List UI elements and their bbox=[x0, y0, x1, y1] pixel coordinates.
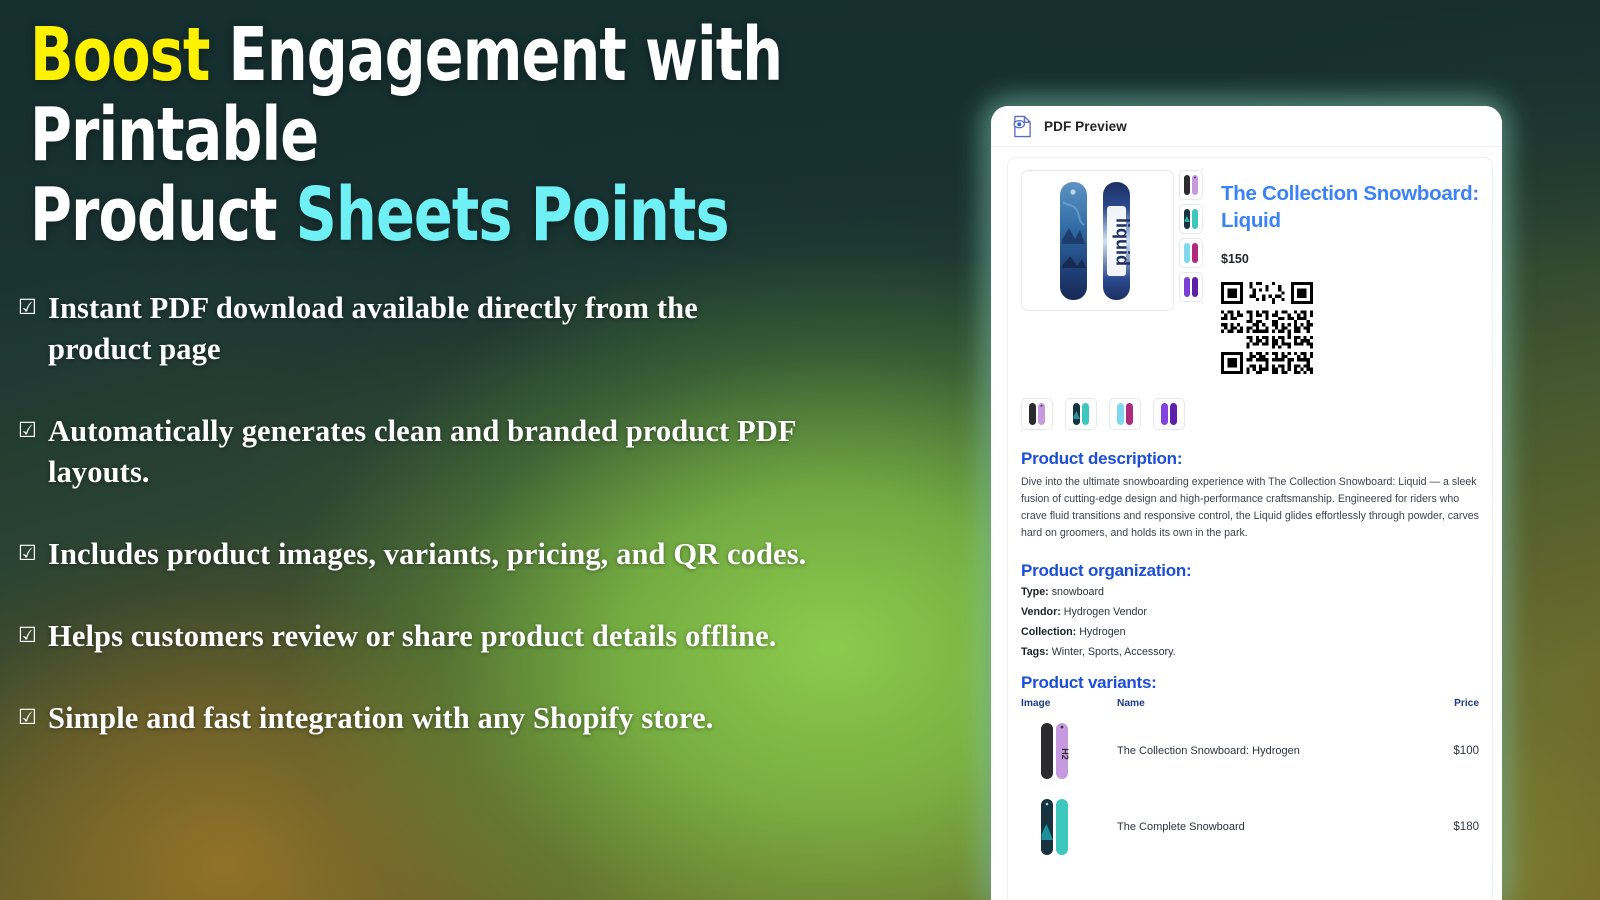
organization-label: Vendor: bbox=[1021, 606, 1061, 618]
thumbnail-variant-black-purple[interactable] bbox=[1021, 398, 1053, 430]
thumbnail-variant-purple-violet[interactable] bbox=[1153, 398, 1185, 430]
pdf-file-eye-icon bbox=[1012, 115, 1033, 138]
pdf-preview-header: PDF Preview bbox=[991, 106, 1502, 147]
feature-bullet-list: ☑ Instant PDF download available directl… bbox=[18, 288, 978, 780]
circled-check-icon: ☑ bbox=[18, 534, 48, 572]
product-title: The Collection Snowboard: Liquid bbox=[1221, 180, 1479, 235]
product-price: $150 bbox=[1221, 252, 1479, 266]
main-product-image[interactable]: liquid bbox=[1021, 170, 1174, 311]
pdf-sheet: liquid bbox=[1007, 157, 1493, 900]
qr-code-image bbox=[1221, 282, 1313, 374]
headline-line2-rest: Product bbox=[30, 172, 277, 258]
side-thumbnail-list bbox=[1179, 170, 1203, 379]
thumbnail-variant-teal-dark[interactable] bbox=[1179, 204, 1203, 234]
product-variants-table: Image Name Price H2 The Collection Snowb… bbox=[1021, 698, 1479, 865]
organization-label: Tags: bbox=[1021, 646, 1049, 658]
variant-name-cell: The Collection Snowboard: Hydrogen bbox=[1117, 713, 1419, 789]
circled-check-icon: ☑ bbox=[18, 288, 48, 326]
thumbnail-variant-purple-violet[interactable] bbox=[1179, 272, 1203, 302]
bullet-text: Simple and fast integration with any Sho… bbox=[48, 698, 713, 739]
organization-value: Winter, Sports, Accessory. bbox=[1052, 646, 1176, 658]
thumbnail-variant-cyan-magenta[interactable] bbox=[1109, 398, 1141, 430]
headline-accent-sheets-points: Sheets Points bbox=[296, 172, 729, 258]
organization-row-type: Type: snowboard bbox=[1021, 586, 1479, 598]
organization-value: Hydrogen bbox=[1079, 626, 1125, 638]
bullet-text: Helps customers review or share product … bbox=[48, 616, 777, 657]
svg-text:H2: H2 bbox=[1060, 748, 1070, 760]
bullet-text: Includes product images, variants, prici… bbox=[48, 534, 806, 575]
product-info-column: The Collection Snowboard: Liquid $150 bbox=[1209, 170, 1479, 379]
table-header-row: Image Name Price bbox=[1021, 698, 1479, 713]
circled-check-icon: ☑ bbox=[18, 411, 48, 449]
column-header-image: Image bbox=[1021, 698, 1117, 713]
bullet-text: Automatically generates clean and brande… bbox=[48, 411, 868, 493]
variant-image-cell: H2 bbox=[1021, 713, 1117, 789]
organization-label: Type: bbox=[1021, 586, 1049, 598]
pdf-preview-card: PDF Preview bbox=[991, 106, 1502, 900]
variant-price-cell: $100 bbox=[1419, 713, 1479, 789]
product-description-body: Dive into the ultimate snowboarding expe… bbox=[1021, 474, 1479, 543]
organization-value: Hydrogen Vendor bbox=[1064, 606, 1147, 618]
variant-image-black-purple: H2 bbox=[1021, 719, 1117, 783]
table-row[interactable]: The Complete Snowboard $180 bbox=[1021, 789, 1479, 865]
thumbnail-variant-cyan-magenta[interactable] bbox=[1179, 238, 1203, 268]
variant-thumbnail-strip bbox=[1021, 398, 1479, 430]
pdf-preview-title: PDF Preview bbox=[1044, 119, 1127, 134]
variant-name-cell: The Complete Snowboard bbox=[1117, 789, 1419, 865]
page-title: Boost Engagement with Printable Product … bbox=[30, 16, 1036, 256]
list-item: ☑ Helps customers review or share produc… bbox=[18, 616, 978, 657]
product-description-heading: Product description: bbox=[1021, 449, 1479, 469]
thumbnail-variant-black-purple[interactable] bbox=[1179, 170, 1203, 200]
product-gallery: liquid bbox=[1021, 170, 1209, 379]
product-organization-heading: Product organization: bbox=[1021, 561, 1479, 581]
variant-image-cell bbox=[1021, 789, 1117, 865]
table-row[interactable]: H2 The Collection Snowboard: Hydrogen $1… bbox=[1021, 713, 1479, 789]
organization-row-collection: Collection: Hydrogen bbox=[1021, 626, 1479, 638]
bullet-text: Instant PDF download available directly … bbox=[48, 288, 778, 370]
qr-code bbox=[1221, 282, 1479, 379]
product-variants-heading: Product variants: bbox=[1021, 673, 1479, 693]
circled-check-icon: ☑ bbox=[18, 616, 48, 654]
list-item: ☑ Simple and fast integration with any S… bbox=[18, 698, 978, 739]
organization-label: Collection: bbox=[1021, 626, 1076, 638]
organization-row-vendor: Vendor: Hydrogen Vendor bbox=[1021, 606, 1479, 618]
variant-image-teal-dark bbox=[1021, 795, 1117, 859]
list-item: ☑ Automatically generates clean and bran… bbox=[18, 411, 978, 493]
organization-value: snowboard bbox=[1052, 586, 1104, 598]
product-hero-row: liquid bbox=[1021, 170, 1479, 379]
column-header-name: Name bbox=[1117, 698, 1419, 713]
circled-check-icon: ☑ bbox=[18, 698, 48, 736]
snowboard-liquid-pair-image: liquid bbox=[1046, 180, 1150, 302]
column-header-price: Price bbox=[1419, 698, 1479, 713]
svg-text:liquid: liquid bbox=[1112, 218, 1132, 266]
headline-accent-boost: Boost bbox=[30, 12, 209, 98]
list-item: ☑ Instant PDF download available directl… bbox=[18, 288, 978, 370]
thumbnail-variant-teal-dark[interactable] bbox=[1065, 398, 1097, 430]
variant-price-cell: $180 bbox=[1419, 789, 1479, 865]
list-item: ☑ Includes product images, variants, pri… bbox=[18, 534, 978, 575]
organization-row-tags: Tags: Winter, Sports, Accessory. bbox=[1021, 646, 1479, 658]
